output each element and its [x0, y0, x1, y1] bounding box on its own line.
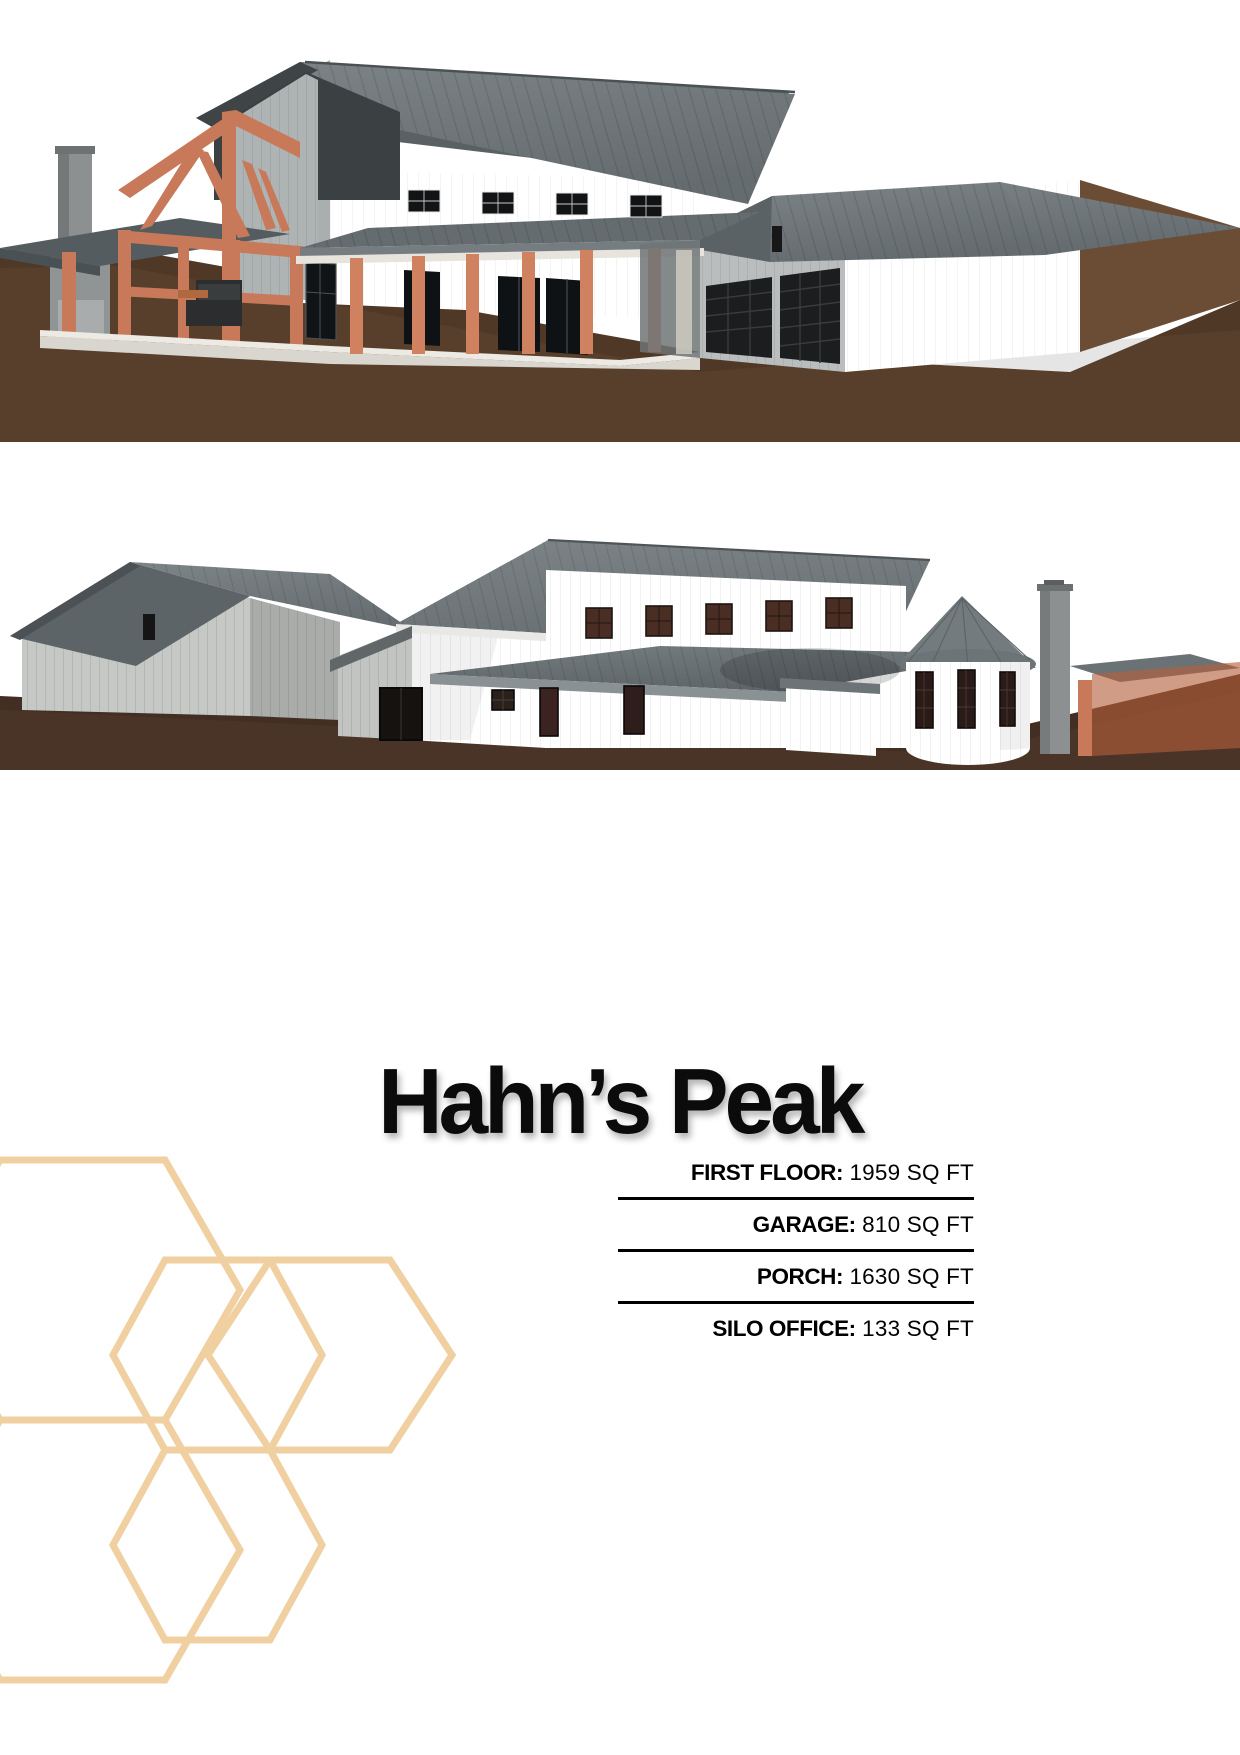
rendering-front-elevation [0, 0, 1240, 450]
hexagon-icon-4 [0, 1420, 240, 1680]
right-timber-porch [1070, 654, 1240, 756]
page-title: Hahn’s Peak [378, 1055, 861, 1148]
spec-colon-first-floor: : [836, 1160, 844, 1186]
spec-value-porch: 1630 SQ FT [843, 1264, 974, 1290]
spec-row-silo-office: SILO OFFICE:133 SQ FT [618, 1301, 974, 1353]
hexagon-logo [0, 1140, 480, 1755]
garage-door-right [780, 268, 840, 364]
rendering-rear-elevation [0, 448, 1240, 793]
garage-door-left [706, 277, 772, 358]
spec-row-first-floor: FIRST FLOOR:1959 SQ FT [618, 1148, 974, 1197]
rear-elevation-svg [0, 448, 1240, 793]
spec-value-garage: 810 SQ FT [856, 1212, 974, 1238]
title-block: Hahn’s Peak [0, 1055, 1240, 1148]
hexagon-icon-5 [113, 1450, 322, 1640]
hexagon-icon-1 [0, 1160, 240, 1420]
marketing-sheet-page: Hahn’s Peak FIRST FLOOR:1959 SQ FT GARAG… [0, 0, 1240, 1755]
hexagon-icon-3 [208, 1260, 452, 1450]
hexagon-icon-2 [113, 1260, 322, 1450]
front-elevation-svg [0, 0, 1240, 450]
spec-value-first-floor: 1959 SQ FT [843, 1160, 974, 1186]
spec-label-porch: PORCH [757, 1264, 836, 1290]
chimney-stack [1037, 580, 1073, 754]
spec-colon-porch: : [836, 1264, 844, 1290]
spec-label-first-floor: FIRST FLOOR [691, 1160, 836, 1186]
spec-label-garage: GARAGE [753, 1212, 849, 1238]
spec-row-garage: GARAGE:810 SQ FT [618, 1197, 974, 1249]
spec-colon-garage: : [849, 1212, 857, 1238]
hexagon-logo-svg [0, 1140, 480, 1755]
spec-row-porch: PORCH:1630 SQ FT [618, 1249, 974, 1301]
spec-colon-silo-office: : [849, 1316, 857, 1342]
spec-label-silo-office: SILO OFFICE [712, 1316, 848, 1342]
spec-value-silo-office: 133 SQ FT [856, 1316, 974, 1342]
specification-table: FIRST FLOOR:1959 SQ FT GARAGE:810 SQ FT … [618, 1148, 974, 1353]
